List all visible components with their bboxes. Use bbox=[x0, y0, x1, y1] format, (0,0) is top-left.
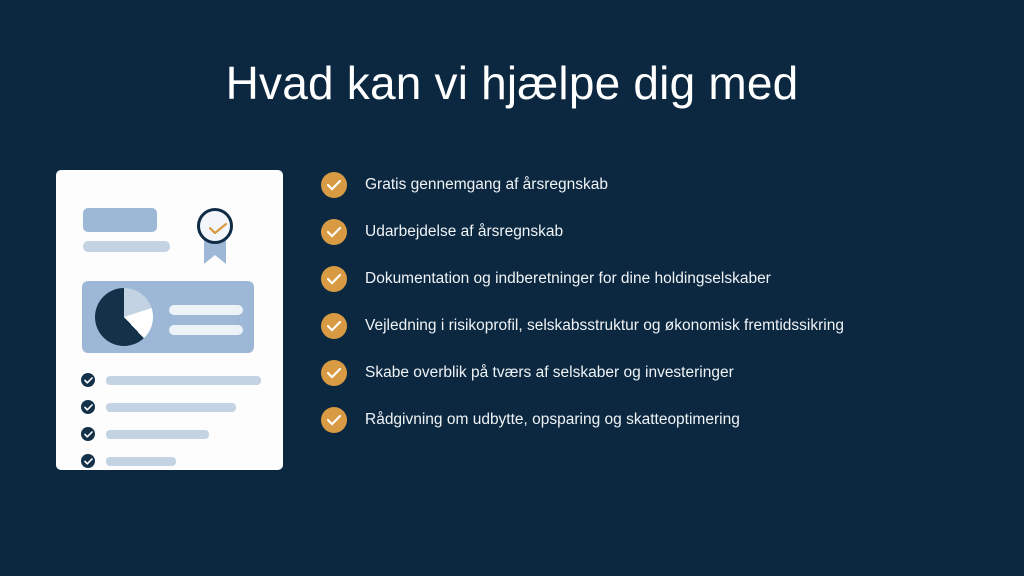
check-circle-icon bbox=[321, 219, 347, 245]
check-circle-icon bbox=[81, 400, 95, 414]
list-item bbox=[81, 400, 261, 419]
placeholder-bar bbox=[106, 430, 209, 439]
panel-text-line bbox=[169, 325, 243, 335]
list-item-label: Dokumentation og indberetninger for dine… bbox=[365, 268, 771, 290]
check-badge-icon bbox=[193, 208, 237, 264]
list-item bbox=[81, 427, 261, 446]
list-item-label: Gratis gennemgang af årsregnskab bbox=[365, 174, 608, 196]
check-circle-icon bbox=[321, 172, 347, 198]
list-item: Skabe overblik på tværs af selskaber og … bbox=[321, 359, 981, 386]
document-illustration bbox=[56, 170, 283, 470]
check-circle-icon bbox=[321, 313, 347, 339]
list-item-label: Rådgivning om udbytte, opsparing og skat… bbox=[365, 409, 740, 431]
list-item: Gratis gennemgang af årsregnskab bbox=[321, 171, 981, 198]
list-item-label: Udarbejdelse af årsregnskab bbox=[365, 221, 563, 243]
checkmark-icon bbox=[209, 223, 227, 234]
document-header-bar bbox=[83, 208, 157, 232]
list-item: Rådgivning om udbytte, opsparing og skat… bbox=[321, 406, 981, 433]
check-circle-icon bbox=[321, 266, 347, 292]
check-circle-icon bbox=[321, 407, 347, 433]
panel-text-line bbox=[169, 305, 243, 315]
placeholder-bar bbox=[106, 403, 236, 412]
check-circle-icon bbox=[321, 360, 347, 386]
list-item-label: Vejledning i risikoprofil, selskabsstruk… bbox=[365, 315, 844, 337]
page-title: Hvad kan vi hjælpe dig med bbox=[0, 53, 1024, 113]
list-item: Udarbejdelse af årsregnskab bbox=[321, 218, 981, 245]
list-item: Dokumentation og indberetninger for dine… bbox=[321, 265, 981, 292]
placeholder-bar bbox=[106, 376, 261, 385]
document-checklist bbox=[81, 373, 261, 481]
placeholder-bar bbox=[106, 457, 176, 466]
chart-panel bbox=[82, 281, 254, 353]
document-subheader-bar bbox=[83, 241, 170, 252]
slide-root: Hvad kan vi hjælpe dig med bbox=[0, 0, 1024, 576]
check-circle-icon bbox=[81, 373, 95, 387]
list-item-label: Skabe overblik på tværs af selskaber og … bbox=[365, 362, 734, 384]
list-item bbox=[81, 454, 261, 473]
service-bullet-list: Gratis gennemgang af årsregnskab Udarbej… bbox=[321, 171, 981, 453]
badge-ring bbox=[197, 208, 233, 244]
check-circle-icon bbox=[81, 427, 95, 441]
check-circle-icon bbox=[81, 454, 95, 468]
pie-chart bbox=[95, 288, 153, 346]
list-item: Vejledning i risikoprofil, selskabsstruk… bbox=[321, 312, 981, 339]
list-item bbox=[81, 373, 261, 392]
